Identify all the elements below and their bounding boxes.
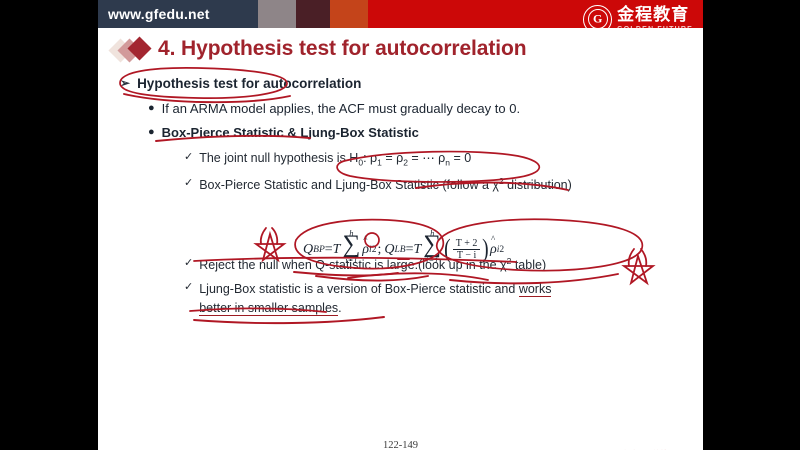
bullet-arma: ● If an ARMA model applies, the ACF must…: [148, 101, 520, 116]
bullet-arma-label: If an ARMA model applies, the ACF must g…: [162, 101, 520, 116]
annot-star-right: [624, 249, 653, 283]
ljung-box-fraction: T + 2 T − i: [453, 238, 481, 261]
seal-letter: G: [593, 12, 602, 27]
logo-name-cn: 金程教育: [617, 6, 693, 23]
underlined-better-samples: better in smaller samples: [199, 301, 338, 316]
check-distribution: ✓ Box-Pierce Statistic and Ljung-Box Sta…: [184, 176, 572, 192]
rho-hat-1: ^ρ: [362, 242, 369, 258]
summation-2: h ∑ i=1: [423, 235, 441, 265]
annot-underline-qstat: [294, 272, 398, 276]
page-title: 4. Hypothesis test for autocorrelation: [158, 37, 526, 61]
bullet-level1: ➢ Hypothesis test for autocorrelation: [120, 76, 361, 91]
slide-body: 4. Hypothesis test for autocorrelation ➢…: [98, 28, 703, 422]
site-url: www.gfedu.net: [98, 6, 210, 22]
annot-swoosh-ljung: [348, 273, 488, 280]
check-icon-3: ✓: [184, 256, 193, 271]
summation-1: h ∑ i=1: [342, 235, 360, 265]
bullet-statistics: ● Box-Pierce Statistic & Ljung-Box Stati…: [148, 125, 419, 140]
check-icon-4: ✓: [184, 280, 193, 295]
diamond-bullet-icon: [112, 36, 158, 62]
ljung-box-note-text: Ljung-Box statistic is a version of Box-…: [199, 280, 551, 319]
paren-close: ): [482, 239, 489, 260]
null-hypothesis-text: The joint null hypothesis is H0: ρ1 = ρ2…: [199, 150, 471, 168]
rho-hat-2: ^ρ: [490, 242, 497, 258]
check-null-hypothesis: ✓ The joint null hypothesis is H0: ρ1 = …: [184, 150, 471, 168]
check-icon-1: ✓: [184, 150, 193, 165]
header-color-block-orange: [330, 0, 368, 28]
paren-open: (: [444, 239, 451, 260]
header-color-block-maroon: [296, 0, 330, 28]
dot-bullet-icon-2: ●: [148, 125, 155, 140]
bullet-level1-label: Hypothesis test for autocorrelation: [137, 76, 361, 91]
underlined-works: works: [519, 282, 552, 297]
header-url-block: www.gfedu.net: [98, 0, 258, 28]
video-viewport: www.gfedu.net G 金程教育 GOLDEN FUTURE: [0, 0, 800, 450]
dot-bullet-icon: ●: [148, 101, 155, 116]
arrow-bullet-icon: ➢: [120, 76, 130, 90]
distribution-text: Box-Pierce Statistic and Ljung-Box Stati…: [199, 176, 572, 192]
check-icon-2: ✓: [184, 176, 193, 191]
bullet-statistics-label: Box-Pierce Statistic & Ljung-Box Statist…: [162, 125, 419, 140]
title-row: 4. Hypothesis test for autocorrelation: [112, 36, 526, 62]
q-statistic-formula: QBP = T h ∑ i=1 ^ρi2 ; QLB = T h ∑ i=1: [303, 235, 504, 265]
header-color-block-gray: [258, 0, 296, 28]
check-ljung-box-note: ✓ Ljung-Box statistic is a version of Bo…: [184, 280, 654, 319]
presentation-slide: www.gfedu.net G 金程教育 GOLDEN FUTURE: [98, 0, 703, 450]
